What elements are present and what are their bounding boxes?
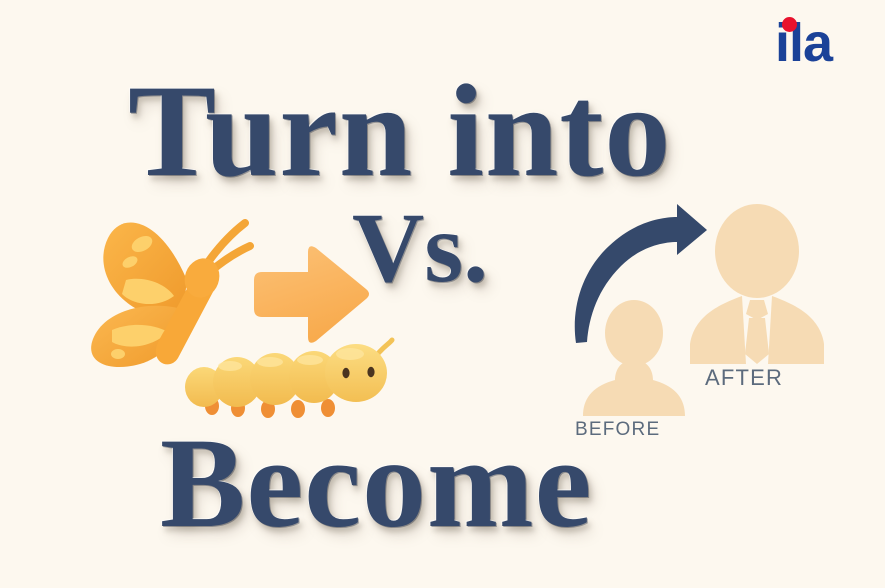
person-silhouette-icon (579, 298, 689, 416)
headline-vs: Vs. (352, 190, 488, 305)
poster-canvas: ila Turn into Vs. Become (0, 0, 885, 588)
red-dot-icon (782, 17, 797, 32)
before-after-illustration: BEFORE AFTER (560, 198, 850, 458)
businessman-silhouette-icon (684, 204, 830, 366)
headline-turn-into: Turn into (128, 54, 671, 207)
ila-logo[interactable]: ila (775, 14, 861, 76)
after-label: AFTER (705, 365, 783, 391)
caterpillar-emoji (180, 330, 402, 435)
before-label: BEFORE (575, 419, 660, 441)
